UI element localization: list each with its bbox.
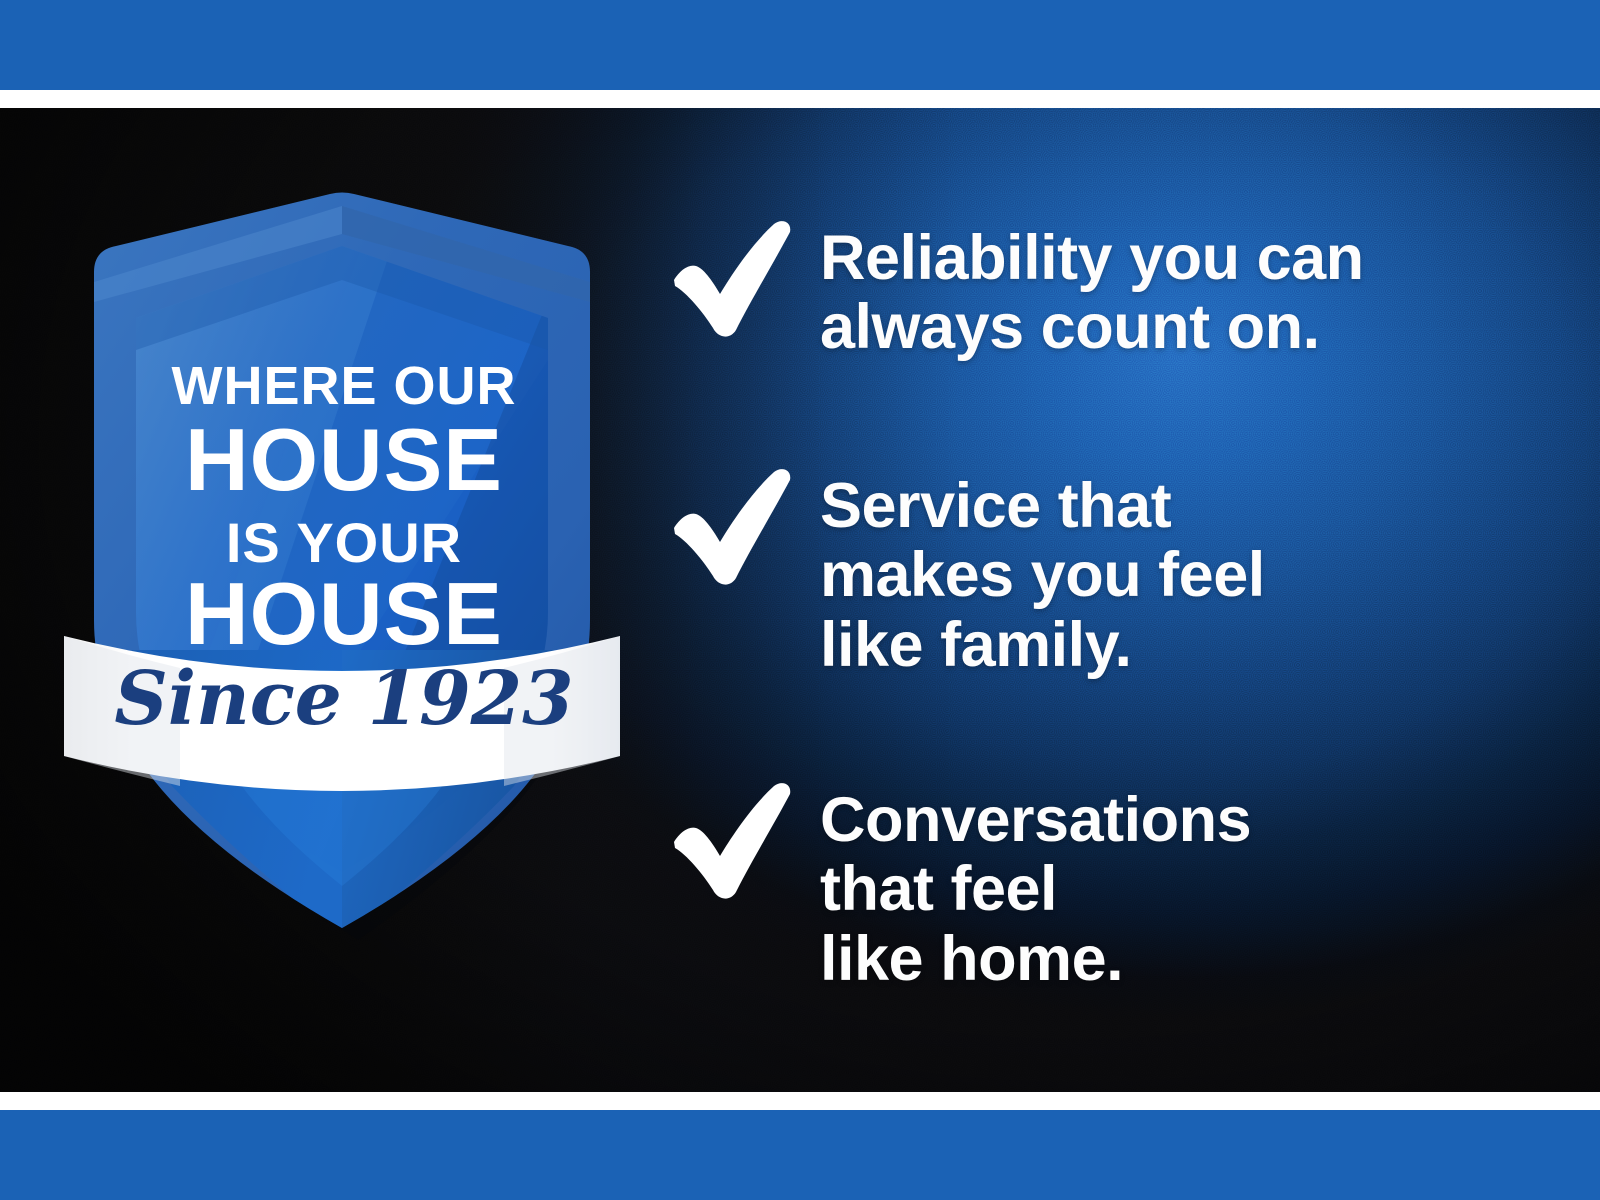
logo-line-2: HOUSE: [185, 410, 503, 509]
list-item-text: Reliability you can always count on.: [820, 218, 1364, 363]
list-item: Conversations that feel like home.: [670, 780, 1251, 994]
list-item-text: Conversations that feel like home.: [820, 780, 1251, 994]
checkmark-icon: [670, 466, 796, 586]
checkmark-icon: [670, 218, 796, 338]
checkmark-icon: [670, 780, 796, 900]
logo-line-1: WHERE OUR: [172, 356, 517, 416]
top-brand-bar: [0, 0, 1600, 90]
list-item: Service that makes you feel like family.: [670, 466, 1265, 680]
list-item-text: Service that makes you feel like family.: [820, 466, 1265, 680]
list-item: Reliability you can always count on.: [670, 218, 1364, 363]
bottom-brand-bar: [0, 1110, 1600, 1200]
bottom-white-stripe: [0, 1092, 1600, 1110]
shield-logo: WHERE OUR HOUSE IS YOUR HOUSE Since 1923: [62, 150, 622, 830]
benefits-list: Reliability you can always count on. Ser…: [660, 108, 1560, 1092]
top-white-stripe: [0, 90, 1600, 108]
ribbon-text: Since 1923: [114, 656, 573, 742]
logo-line-4: HOUSE: [185, 564, 503, 663]
promo-banner: WHERE OUR HOUSE IS YOUR HOUSE Since 1923: [0, 0, 1600, 1200]
